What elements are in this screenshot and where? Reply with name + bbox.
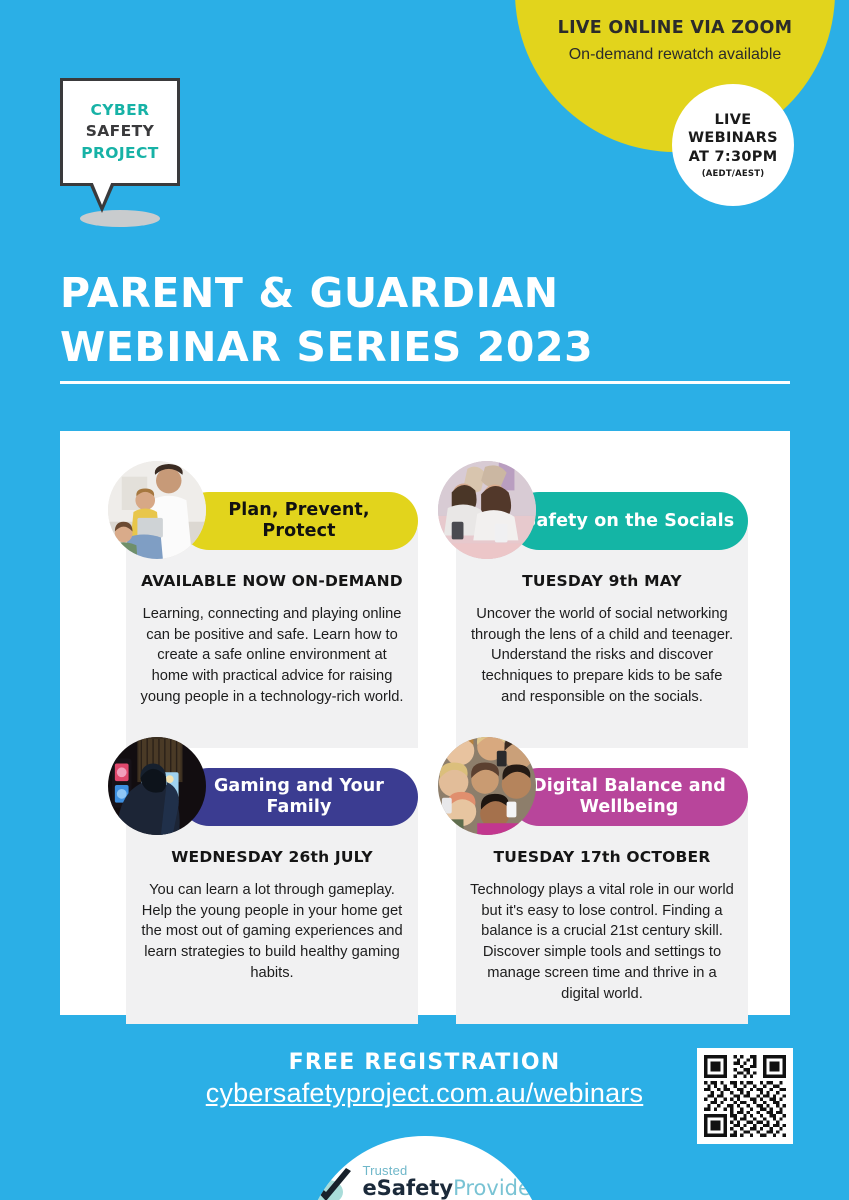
webinar-date: AVAILABLE NOW ON-DEMAND: [140, 572, 404, 590]
page-title: PARENT & GUARDIAN WEBINAR SERIES 2023: [60, 266, 800, 374]
webinar-description: You can learn a lot through gameplay. He…: [140, 880, 404, 984]
live-webinars-time-badge: LIVE WEBINARS AT 7:30PM (AEDT/AEST): [672, 84, 794, 206]
webinar-description: Learning, connecting and playing online …: [140, 604, 404, 708]
group-of-teens-with-phones-photo: [438, 737, 536, 835]
webinar-date: TUESDAY 17th OCTOBER: [470, 848, 734, 866]
webinar-thumbnail: [438, 737, 536, 835]
logo-line-safety: SAFETY: [86, 121, 155, 142]
two-girls-on-phones-photo: [438, 461, 536, 559]
esafety-provider-badge: Trusted eSafetyProvider esafety.gov.au: [304, 1136, 546, 1200]
webinar-title: Plan, Prevent, Protect: [180, 500, 418, 542]
webinar-details: TUESDAY 17th OCTOBER Technology plays a …: [456, 804, 748, 1024]
logo-speech-bubble: CYBER SAFETY PROJECT: [60, 78, 180, 186]
webinar-thumbnail: [108, 461, 206, 559]
webinar-title-pill: Digital Balance and Wellbeing: [510, 768, 748, 826]
webinar-details: AVAILABLE NOW ON-DEMAND Learning, connec…: [126, 528, 418, 748]
live-online-title: LIVE ONLINE VIA ZOOM: [527, 18, 823, 38]
live-webinars-line1: LIVE: [715, 111, 752, 130]
webinar-cards-panel: Plan, Prevent, Protect: [60, 431, 790, 1015]
live-webinars-line3: AT 7:30PM: [689, 148, 778, 167]
webinar-description: Technology plays a vital role in our wor…: [470, 880, 734, 1004]
title-divider: [60, 381, 790, 384]
esafety-name: eSafetyProvider: [362, 1178, 539, 1199]
webinar-details: TUESDAY 9th MAY Uncover the world of soc…: [456, 528, 748, 748]
cyber-safety-project-logo: CYBER SAFETY PROJECT: [60, 78, 186, 186]
webinar-title-pill: Gaming and Your Family: [180, 768, 418, 826]
qr-code[interactable]: [697, 1048, 793, 1144]
timezone-label: (AEDT/AEST): [702, 169, 765, 179]
webinar-date: TUESDAY 9th MAY: [470, 572, 734, 590]
webinar-title: Safety on the Socials: [514, 511, 744, 532]
person-gaming-at-night-photo: [108, 737, 206, 835]
webinar-date: WEDNESDAY 26th JULY: [140, 848, 404, 866]
esafety-name-light: Provider: [453, 1176, 539, 1200]
webinar-title-pill: Safety on the Socials: [510, 492, 748, 550]
poster: LIVE ONLINE VIA ZOOM On-demand rewatch a…: [0, 0, 849, 1200]
webinar-description: Uncover the world of social networking t…: [470, 604, 734, 708]
logo-pin-tail-fill: [92, 181, 112, 205]
esafety-name-bold: eSafety: [362, 1176, 453, 1200]
logo-line-project: PROJECT: [81, 143, 159, 164]
live-webinars-line2: WEBINARS: [688, 129, 778, 148]
page-title-line1: PARENT & GUARDIAN: [60, 266, 800, 320]
webinar-thumbnail: [438, 461, 536, 559]
webinar-title: Digital Balance and Wellbeing: [510, 776, 748, 818]
esafety-wordmark: Trusted eSafetyProvider esafety.gov.au: [362, 1164, 539, 1200]
on-demand-subtitle: On-demand rewatch available: [527, 45, 823, 65]
father-and-son-with-tablet-photo: [108, 461, 206, 559]
webinar-details: WEDNESDAY 26th JULY You can learn a lot …: [126, 804, 418, 1024]
qr-code-image: [704, 1055, 786, 1137]
webinar-thumbnail: [108, 737, 206, 835]
webinar-title: Gaming and Your Family: [180, 776, 418, 818]
page-title-line2: WEBINAR SERIES 2023: [60, 320, 800, 374]
esafety-check-icon: [310, 1168, 356, 1200]
logo-line-cyber: CYBER: [91, 100, 150, 121]
webinar-title-pill: Plan, Prevent, Protect: [180, 492, 418, 550]
